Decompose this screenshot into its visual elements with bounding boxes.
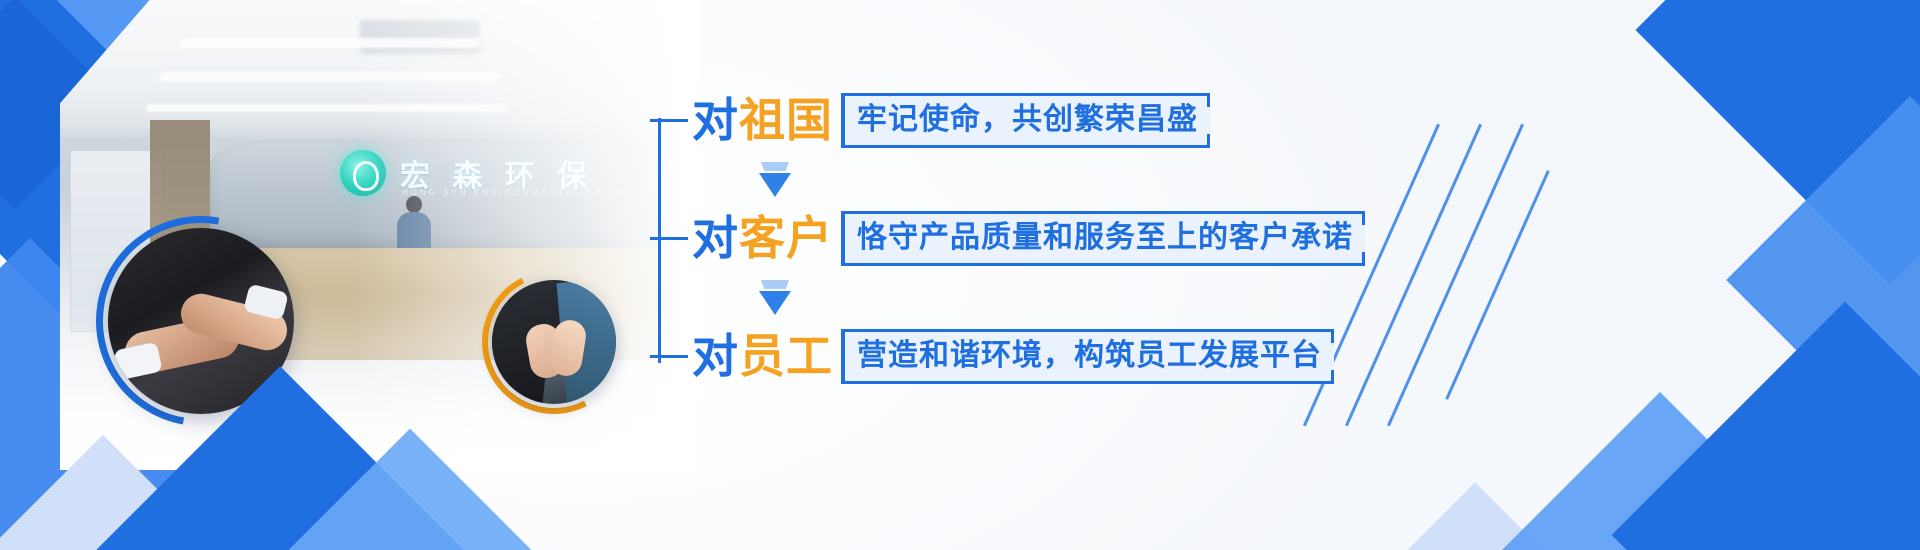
company-values-banner: 宏 森 环 保 HONG SEN ENVIRONMENTAL PROTECTIO… <box>0 0 1920 550</box>
arrow-tip <box>759 173 791 197</box>
arrow-cap <box>761 162 789 171</box>
value-label-employee: 对员工 <box>692 333 833 379</box>
value-keyword: 客户 <box>739 215 833 261</box>
value-label-country: 对祖国 <box>692 97 833 143</box>
arrow-down-icon <box>758 162 792 196</box>
connector-tick <box>650 119 688 122</box>
value-prefix: 对 <box>692 97 739 143</box>
deco-line <box>1445 170 1549 400</box>
value-row-employee: 对员工 营造和谐环境，构筑员工发展平台 <box>650 328 1334 384</box>
value-row-country: 对祖国 牢记使命，共创繁荣昌盛 <box>650 92 1210 148</box>
value-statement-country: 牢记使命，共创繁荣昌盛 <box>841 93 1210 148</box>
value-label-customer: 对客户 <box>692 215 833 261</box>
value-prefix: 对 <box>692 333 739 379</box>
value-statement-customer: 恪守产品质量和服务至上的客户承诺 <box>841 211 1365 266</box>
connector-tick <box>650 237 688 240</box>
arrow-down-icon <box>758 280 792 314</box>
arrow-cap <box>761 280 789 289</box>
value-keyword: 员工 <box>739 333 833 379</box>
value-prefix: 对 <box>692 215 739 261</box>
value-row-customer: 对客户 恪守产品质量和服务至上的客户承诺 <box>650 210 1365 266</box>
value-statement-employee: 营造和谐环境，构筑员工发展平台 <box>841 329 1334 384</box>
deco-diagonal-lines <box>1360 150 1620 450</box>
arrow-tip <box>759 291 791 315</box>
connector-tick <box>650 355 688 358</box>
values-content: 对祖国 牢记使命，共创繁荣昌盛 对客户 恪守产品质量和服务至上的客户承诺 <box>650 70 1370 400</box>
value-keyword: 祖国 <box>739 97 833 143</box>
shirt-cuff-left <box>113 342 162 380</box>
applause-photo <box>492 280 616 404</box>
values-list: 对祖国 牢记使命，共创繁荣昌盛 对客户 恪守产品质量和服务至上的客户承诺 <box>650 70 1370 400</box>
